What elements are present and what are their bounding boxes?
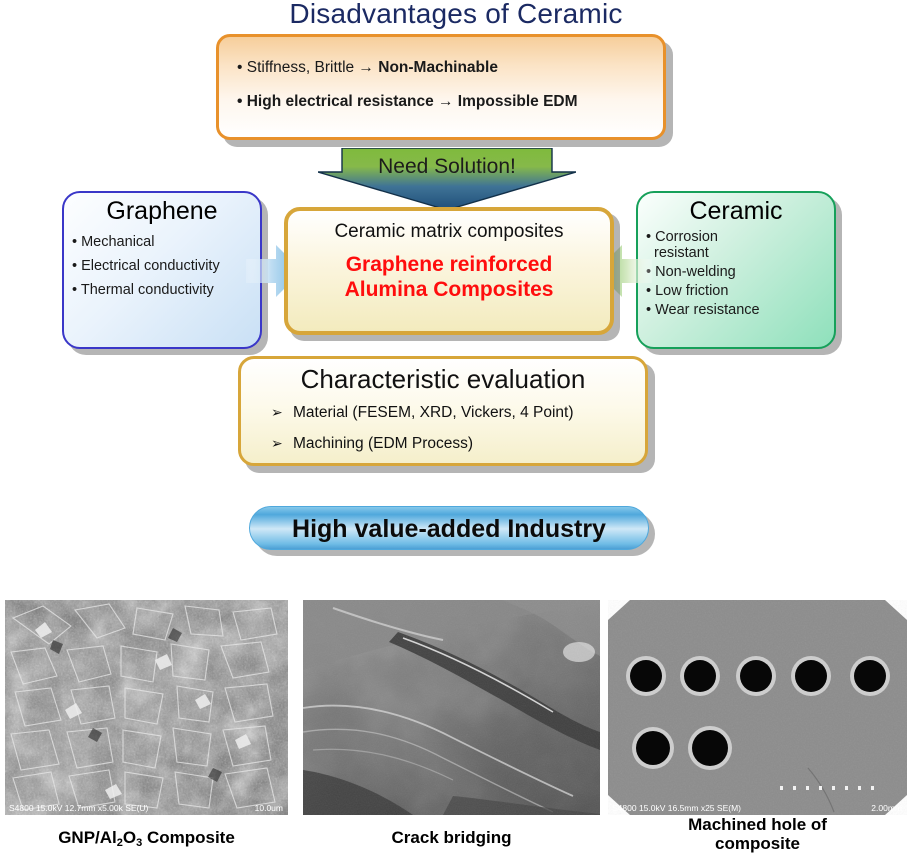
caption-sem-1: GNP/Al2O3 Composite — [5, 828, 288, 847]
sem1-info-bar: S4800 15.0kV 12.7mm x5.00k SE(U) 10.0um — [5, 800, 288, 815]
sem3-info-bar: S4800 15.0kV 16.5mm x25 SE(M) 2.00mm — [608, 800, 907, 815]
sem-micrograph-fracture-surface — [5, 600, 288, 815]
ceramic-item-1-continuation: resistant — [654, 245, 834, 261]
center-composites-box: Ceramic matrix composites Graphene reinf… — [284, 207, 614, 335]
center-box-highlight-1: Graphene reinforced — [288, 252, 610, 277]
ceramic-item-1: • Corrosion — [646, 229, 834, 245]
caption-1-part-c: Composite — [142, 828, 235, 847]
sem-image-gnp-composite: S4800 15.0kV 12.7mm x5.00k SE(U) 10.0um — [5, 600, 288, 815]
caption-3-line-1: Machined hole of — [608, 815, 907, 834]
disadvantage-item-2: • High electrical resistance → Impossibl… — [237, 93, 578, 111]
arrow-bullet-icon: ➢ — [271, 404, 293, 421]
characteristic-item-1: ➢Material (FESEM, XRD, Vickers, 4 Point) — [271, 404, 645, 422]
graphene-heading: Graphene — [64, 197, 260, 226]
need-solution-label: Need Solution! — [318, 155, 576, 179]
sem-micrograph-crack — [303, 600, 600, 815]
sem1-info-left: S4800 15.0kV 12.7mm x5.00k SE(U) — [9, 803, 148, 813]
caption-1-sub-1: 2 — [117, 837, 123, 849]
sem3-info-left: S4800 15.0kV 16.5mm x25 SE(M) — [612, 803, 741, 813]
center-box-highlight-2: Alumina Composites — [288, 277, 610, 302]
arrow-bullet-icon: ➢ — [271, 435, 293, 452]
characteristic-item-2: ➢Machining (EDM Process) — [271, 435, 645, 453]
center-box-title: Ceramic matrix composites — [288, 221, 610, 243]
need-solution-arrow: Need Solution! — [318, 148, 576, 210]
page-title: Disadvantages of Ceramic — [0, 0, 912, 30]
ceramic-item-3: • Low friction — [646, 283, 834, 299]
disadvantage-item-1-bold: Non-Machinable — [378, 59, 498, 76]
disadvantage-item-1-plain: • Stiffness, Brittle → — [237, 59, 378, 76]
ceramic-box: Ceramic • Corrosion resistant • Non-weld… — [636, 191, 836, 349]
ceramic-item-2: • Non-welding — [646, 264, 834, 280]
characteristic-item-2-label: Machining (EDM Process) — [293, 435, 473, 452]
caption-sem-2: Crack bridging — [303, 828, 600, 847]
sem-micrograph-edm-holes — [608, 600, 907, 815]
caption-1-sub-2: 3 — [136, 837, 142, 849]
caption-3-line-2: composite — [608, 834, 907, 853]
sem3-scale: 2.00mm — [871, 803, 902, 813]
graphene-item-2: • Electrical conductivity — [72, 258, 260, 274]
characteristic-item-1-label: Material (FESEM, XRD, Vickers, 4 Point) — [293, 404, 574, 421]
disadvantage-item-1: • Stiffness, Brittle → Non-Machinable — [237, 59, 498, 77]
graphene-box: Graphene • Mechanical • Electrical condu… — [62, 191, 262, 349]
sem-image-machined-holes: S4800 15.0kV 16.5mm x25 SE(M) 2.00mm — [608, 600, 907, 815]
caption-1-part-b: O — [123, 828, 136, 847]
ceramic-item-4: • Wear resistance — [646, 302, 834, 318]
caption-sem-3: Machined hole of composite — [608, 815, 907, 853]
caption-1-part-a: GNP/Al — [58, 828, 117, 847]
graphene-item-3: • Thermal conductivity — [72, 282, 260, 298]
characteristic-evaluation-box: Characteristic evaluation ➢Material (FES… — [238, 356, 648, 466]
sem-image-crack-bridging — [303, 600, 600, 815]
disadvantages-box: • Stiffness, Brittle → Non-Machinable • … — [216, 34, 666, 140]
sem1-scale: 10.0um — [255, 803, 283, 813]
characteristic-heading: Characteristic evaluation — [241, 364, 645, 395]
graphene-item-1: • Mechanical — [72, 234, 260, 250]
ceramic-heading: Ceramic — [638, 197, 834, 226]
high-value-banner-label: High value-added Industry — [250, 507, 648, 551]
high-value-banner: High value-added Industry — [249, 506, 649, 550]
